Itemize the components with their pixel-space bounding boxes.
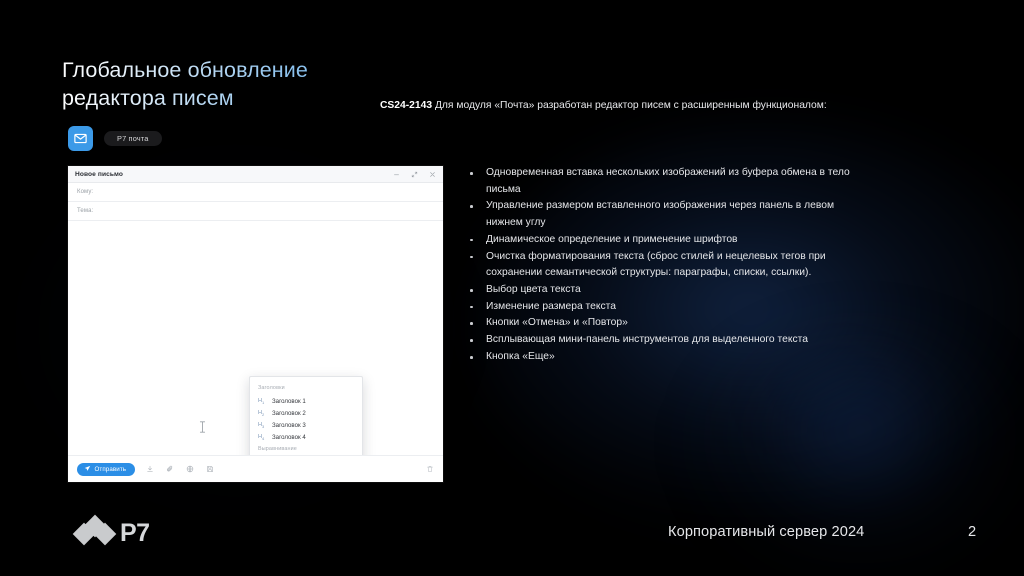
close-icon[interactable] (429, 171, 436, 178)
list-item: Очистка форматирования текста (сброс сти… (466, 249, 866, 282)
send-button[interactable]: Отправить (77, 463, 135, 476)
heading-level-icon: H3 (258, 422, 266, 429)
editor-field-to-label: Кому: (77, 189, 93, 195)
editor-field-subject[interactable]: Тема: (68, 202, 443, 221)
send-plane-icon (84, 465, 91, 474)
lead-paragraph: CS24-2143 Для модуля «Почта» разработан … (380, 98, 850, 115)
page-title: Глобальное обновление редактора писем (62, 56, 308, 113)
dropdown-item-heading-4[interactable]: H4 Заголовок 4 (250, 431, 362, 443)
dropdown-item-label: Заголовок 2 (272, 410, 306, 417)
footer-logo-text: Р7 (120, 521, 150, 546)
ticket-id: CS24-2143 (380, 100, 432, 111)
list-item: Кнопка «Еще» (466, 349, 866, 366)
editor-titlebar: Новое письмо (68, 166, 443, 183)
slide-root: Глобальное обновление редактора писем Р7… (0, 0, 1024, 576)
dropdown-item-heading-1[interactable]: H1 Заголовок 1 (250, 395, 362, 407)
p7-diamond-icon (76, 518, 113, 548)
editor-window-controls (393, 171, 436, 178)
page-number: 2 (968, 524, 976, 540)
dropdown-section-headings: Заголовки (250, 382, 362, 395)
dropdown-item-heading-3[interactable]: H3 Заголовок 3 (250, 419, 362, 431)
feature-bullet-list: Одновременная вставка нескольких изображ… (466, 165, 866, 366)
editor-field-subject-label: Тема: (77, 208, 93, 214)
list-item: Выбор цвета текста (466, 282, 866, 299)
editor-window-title: Новое письмо (75, 171, 123, 178)
heading-level-icon: H1 (258, 398, 266, 405)
attach-icon[interactable] (164, 464, 175, 475)
dropdown-item-heading-2[interactable]: H2 Заголовок 2 (250, 407, 362, 419)
editor-body-area[interactable]: Заголовки H1 Заголовок 1 H2 Заголовок 2 … (68, 221, 443, 445)
mail-editor-screenshot: Новое письмо Кому: Тема: (68, 166, 443, 482)
list-item: Всплывающая мини-панель инструментов для… (466, 332, 866, 349)
trash-icon[interactable] (426, 465, 434, 473)
mail-envelope-icon (68, 126, 93, 151)
list-item: Одновременная вставка нескольких изображ… (466, 165, 866, 198)
heading-level-icon: H2 (258, 410, 266, 417)
footer-caption: Корпоративный сервер 2024 (668, 524, 864, 540)
dropdown-item-label: Заголовок 1 (272, 398, 306, 405)
list-item: Динамическое определение и применение шр… (466, 232, 866, 249)
list-item: Изменение размера текста (466, 299, 866, 316)
expand-icon[interactable] (411, 171, 418, 178)
save-draft-icon[interactable] (204, 464, 215, 475)
dropdown-item-label: Заголовок 4 (272, 434, 306, 441)
list-item: Кнопки «Отмена» и «Повтор» (466, 315, 866, 332)
lead-text: Для модуля «Почта» разработан редактор п… (432, 100, 827, 111)
footer-logo: Р7 (76, 518, 150, 548)
editor-field-to[interactable]: Кому: (68, 183, 443, 202)
list-item: Управление размером вставленного изображ… (466, 198, 866, 231)
editor-send-bar: Отправить (68, 455, 443, 482)
minimize-icon[interactable] (393, 171, 400, 178)
heading-level-icon: H4 (258, 434, 266, 441)
product-name-pill: Р7 почта (104, 131, 162, 146)
emoji-icon[interactable] (184, 464, 195, 475)
dropdown-item-label: Заголовок 3 (272, 422, 306, 429)
signature-icon[interactable] (144, 464, 155, 475)
text-cursor-icon (199, 420, 206, 432)
product-badge-row: Р7 почта (68, 126, 162, 151)
send-button-label: Отправить (95, 466, 127, 473)
